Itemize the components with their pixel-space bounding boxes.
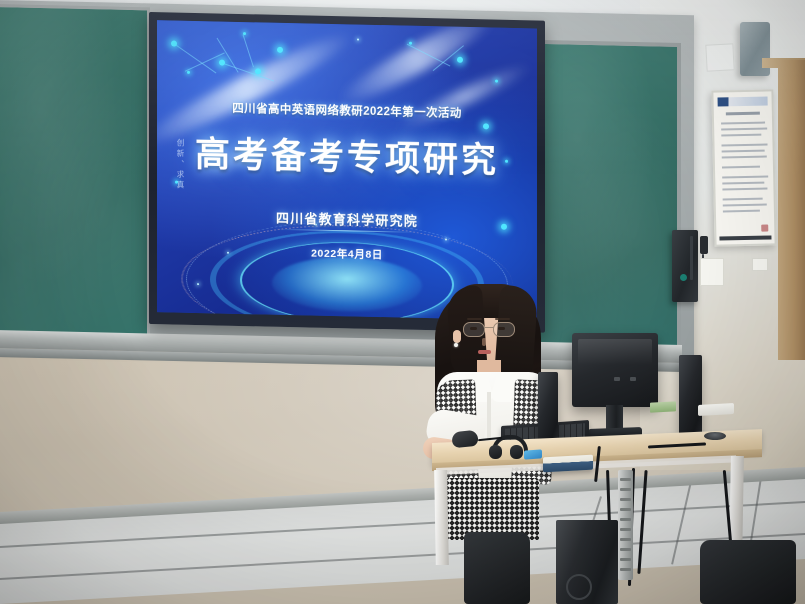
headphone-cup-left: [489, 445, 502, 459]
network-device: [543, 455, 593, 473]
pc-fan-icon: [566, 574, 592, 600]
bag-right: [700, 540, 796, 604]
slide-text-block: 四川省高中英语网络教研2022年第一次活动 高考备考专项研究 四川省教育科学研究…: [157, 20, 537, 320]
wall-note-small: [700, 258, 724, 286]
slide-subtitle: 四川省高中英语网络教研2022年第一次活动: [157, 98, 537, 122]
notice-bottom-bar: [719, 235, 771, 240]
door-frame: [778, 60, 805, 360]
ear: [453, 330, 461, 343]
power-led-icon: [680, 274, 687, 281]
green-card: [650, 401, 676, 412]
headphone-cup-right: [510, 445, 523, 459]
display-screen[interactable]: 四川省高中英语网络教研2022年第一次活动 高考备考专项研究 四川省教育科学研究…: [157, 20, 537, 320]
slide-date: 2022年4月8日: [157, 242, 537, 265]
classroom-photo: 四川省高中英语网络教研2022年第一次活动 高考备考专项研究 四川省教育科学研究…: [0, 0, 805, 604]
skirt: [447, 478, 539, 540]
notice-header-bar: [718, 96, 768, 106]
mouth: [478, 350, 491, 354]
pc-tower: [556, 520, 618, 604]
chalkboard-panel-left: [0, 4, 150, 343]
eye-right: [498, 327, 505, 330]
wall-conduit: [700, 236, 708, 254]
bag-left: [464, 532, 530, 604]
desk-puck: [704, 432, 726, 440]
glasses-bridge: [484, 327, 494, 328]
notice-stamp: [761, 225, 768, 232]
eye-left: [470, 327, 477, 330]
slide-side-motto: 创新、求真: [175, 139, 186, 192]
wall-plate: [705, 43, 734, 71]
desk-leg-left: [434, 470, 449, 565]
slide-organization: 四川省教育科学研究院: [157, 205, 537, 232]
wall-note-tiny: [752, 258, 768, 271]
monitor-sheen: [578, 339, 652, 365]
cable-management-pole: [618, 470, 633, 580]
slide-org-underline: [278, 229, 416, 233]
notice-title-line: [726, 112, 760, 116]
white-box: [698, 403, 734, 416]
nose: [482, 338, 486, 346]
slide-title: 高考备考专项研究: [157, 125, 537, 184]
amplifier-box: [672, 230, 698, 302]
blue-accessory: [524, 449, 542, 459]
chalk-dust-left: [0, 7, 147, 340]
earring: [454, 343, 458, 347]
notice-frame: [711, 89, 776, 246]
monitor[interactable]: [572, 333, 658, 407]
